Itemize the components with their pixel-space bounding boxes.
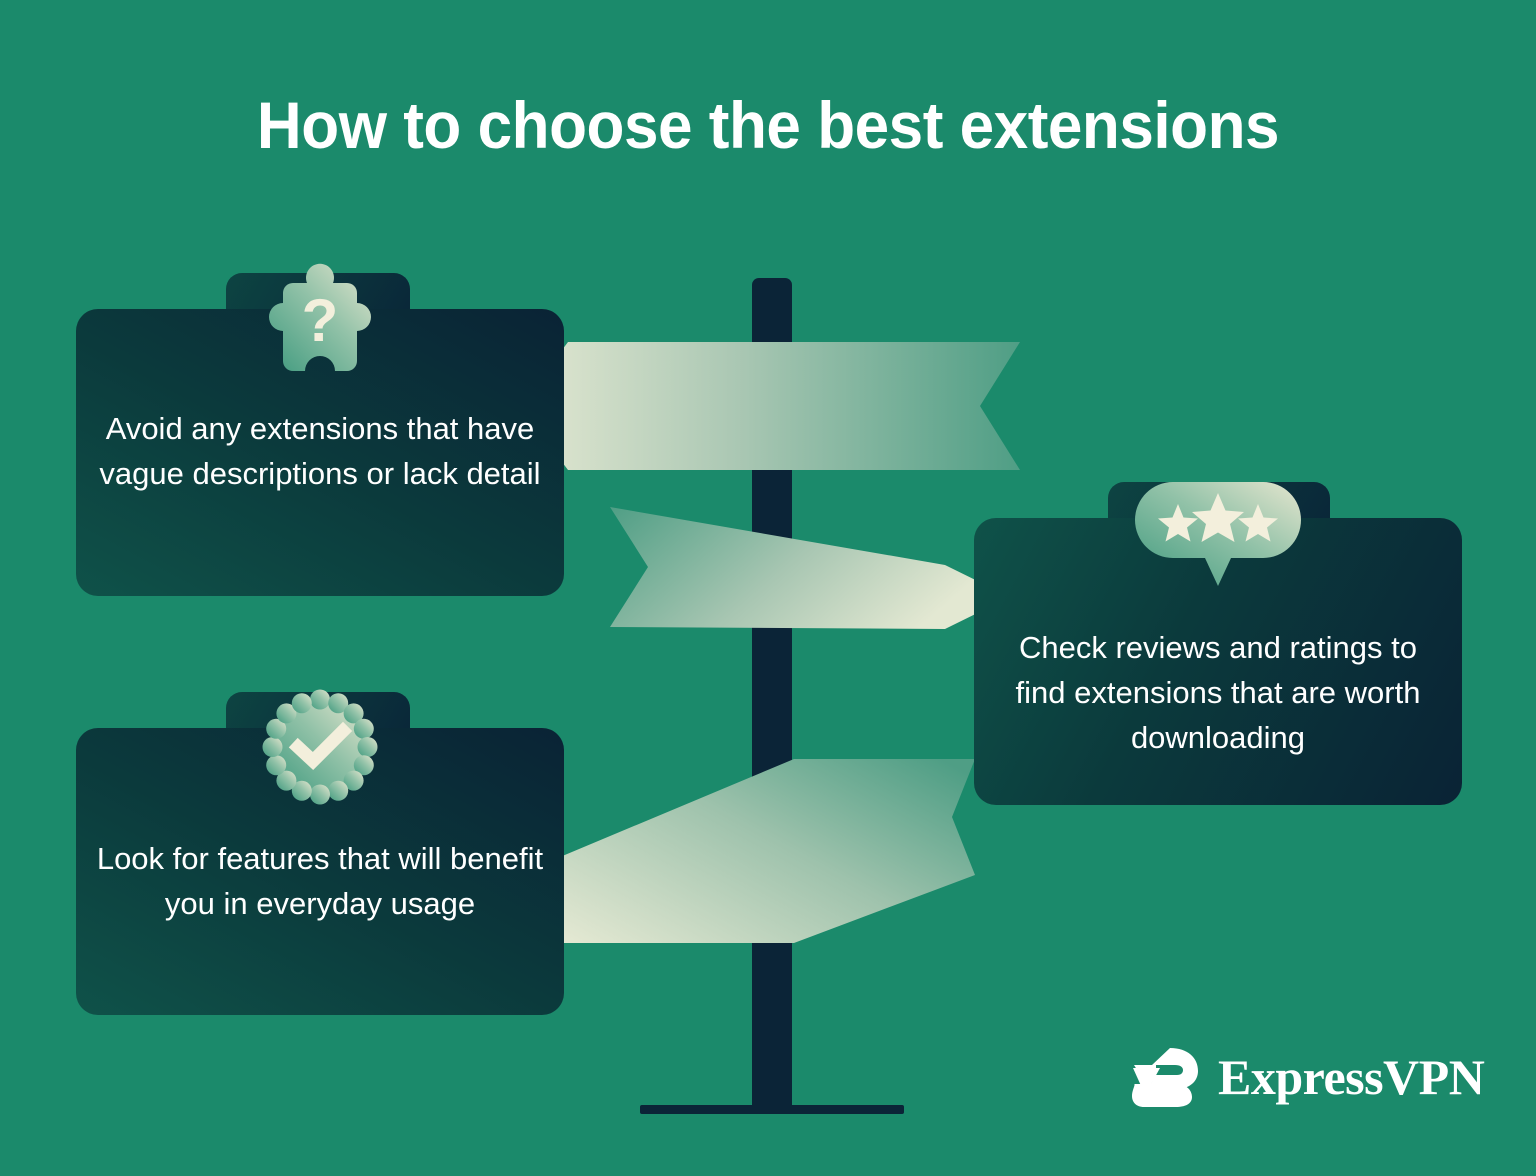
signpost-arrow-right-middle	[600, 505, 1010, 690]
speech-bubble-stars-icon	[1133, 476, 1303, 591]
expressvpn-logo: ExpressVPN	[1130, 1044, 1484, 1110]
page-title: How to choose the best extensions	[46, 86, 1490, 164]
expressvpn-wordmark: ExpressVPN	[1218, 1052, 1484, 1102]
svg-text:?: ?	[302, 287, 339, 354]
signpost-arrow-left-bottom	[515, 755, 975, 945]
signpost-base	[640, 1105, 904, 1114]
signpost-arrow-left-top	[520, 340, 1020, 472]
card-check-reviews: Check reviews and ratings to find extens…	[974, 518, 1462, 805]
puzzle-question-icon: ?	[255, 259, 385, 384]
card-text: Check reviews and ratings to find extens…	[994, 625, 1443, 760]
card-avoid-vague: ? Avoid any extensions that have vague d…	[76, 309, 564, 596]
card-look-features: Look for features that will benefit you …	[76, 728, 564, 1015]
verified-check-badge-icon	[261, 688, 379, 806]
infographic-canvas: How to choose the best extensions	[0, 0, 1536, 1176]
expressvpn-e-mark-icon	[1130, 1044, 1202, 1110]
card-text: Avoid any extensions that have vague des…	[96, 406, 545, 496]
card-text: Look for features that will benefit you …	[96, 836, 545, 926]
